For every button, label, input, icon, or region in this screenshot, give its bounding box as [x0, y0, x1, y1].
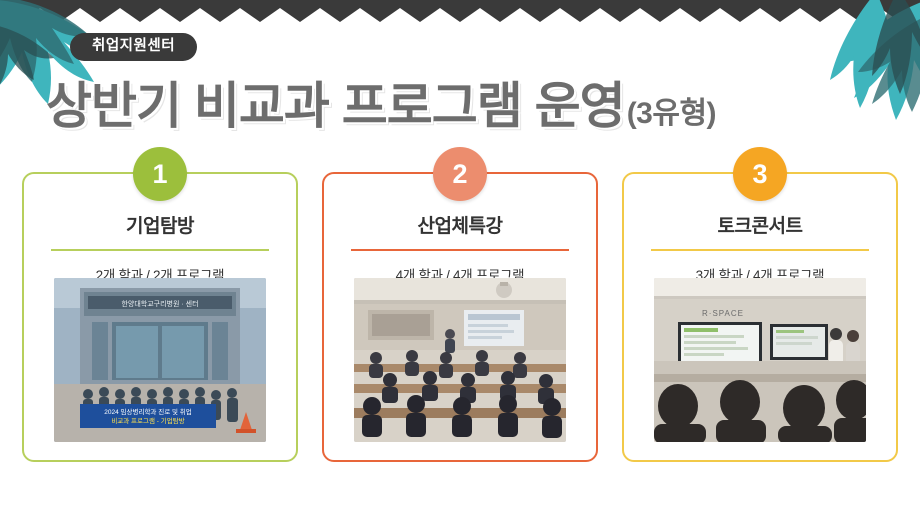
center-badge: 취업지원센터 — [70, 33, 197, 61]
program-card-list: 1 기업탐방 2개 학과 / 2개 프로그램 한양대학교구리병원 · 센터 — [22, 172, 898, 462]
card-1-number-badge: 1 — [133, 147, 187, 201]
program-card-3[interactable]: 3 토크콘서트 3개 학과 / 4개 프로그램 R·SPACE — [622, 172, 898, 462]
card-3-divider — [651, 249, 869, 251]
card-3-title: 토크콘서트 — [624, 211, 896, 238]
program-card-2[interactable]: 2 산업체특강 4개 학과 / 4개 프로그램 — [322, 172, 598, 462]
page-title-suffix: (3유형) — [627, 88, 716, 132]
program-card-1[interactable]: 1 기업탐방 2개 학과 / 2개 프로그램 한양대학교구리병원 · 센터 — [22, 172, 298, 462]
card-3-photo: R·SPACE — [654, 278, 866, 442]
svg-text:비교과 프로그램 - 기업탐방: 비교과 프로그램 - 기업탐방 — [111, 416, 184, 425]
page-title-main: 상반기 비교과 프로그램 운영 — [46, 66, 625, 138]
card-2-divider — [351, 249, 569, 251]
card-2-title: 산업체특강 — [324, 211, 596, 238]
svg-text:R·SPACE: R·SPACE — [702, 309, 744, 318]
svg-text:한양대학교구리병원 · 센터: 한양대학교구리병원 · 센터 — [121, 299, 198, 308]
card-2-number-badge: 2 — [433, 147, 487, 201]
card-3-number-badge: 3 — [733, 147, 787, 201]
card-1-photo: 한양대학교구리병원 · 센터 — [54, 278, 266, 442]
card-1-title: 기업탐방 — [24, 211, 296, 238]
card-2-photo — [354, 278, 566, 442]
card-1-divider — [51, 249, 269, 251]
svg-text:2024 임상병리학과 진로 및 취업: 2024 임상병리학과 진로 및 취업 — [104, 407, 191, 416]
zigzag-header-band — [0, 0, 920, 26]
page-title: 상반기 비교과 프로그램 운영 (3유형) — [46, 66, 906, 138]
